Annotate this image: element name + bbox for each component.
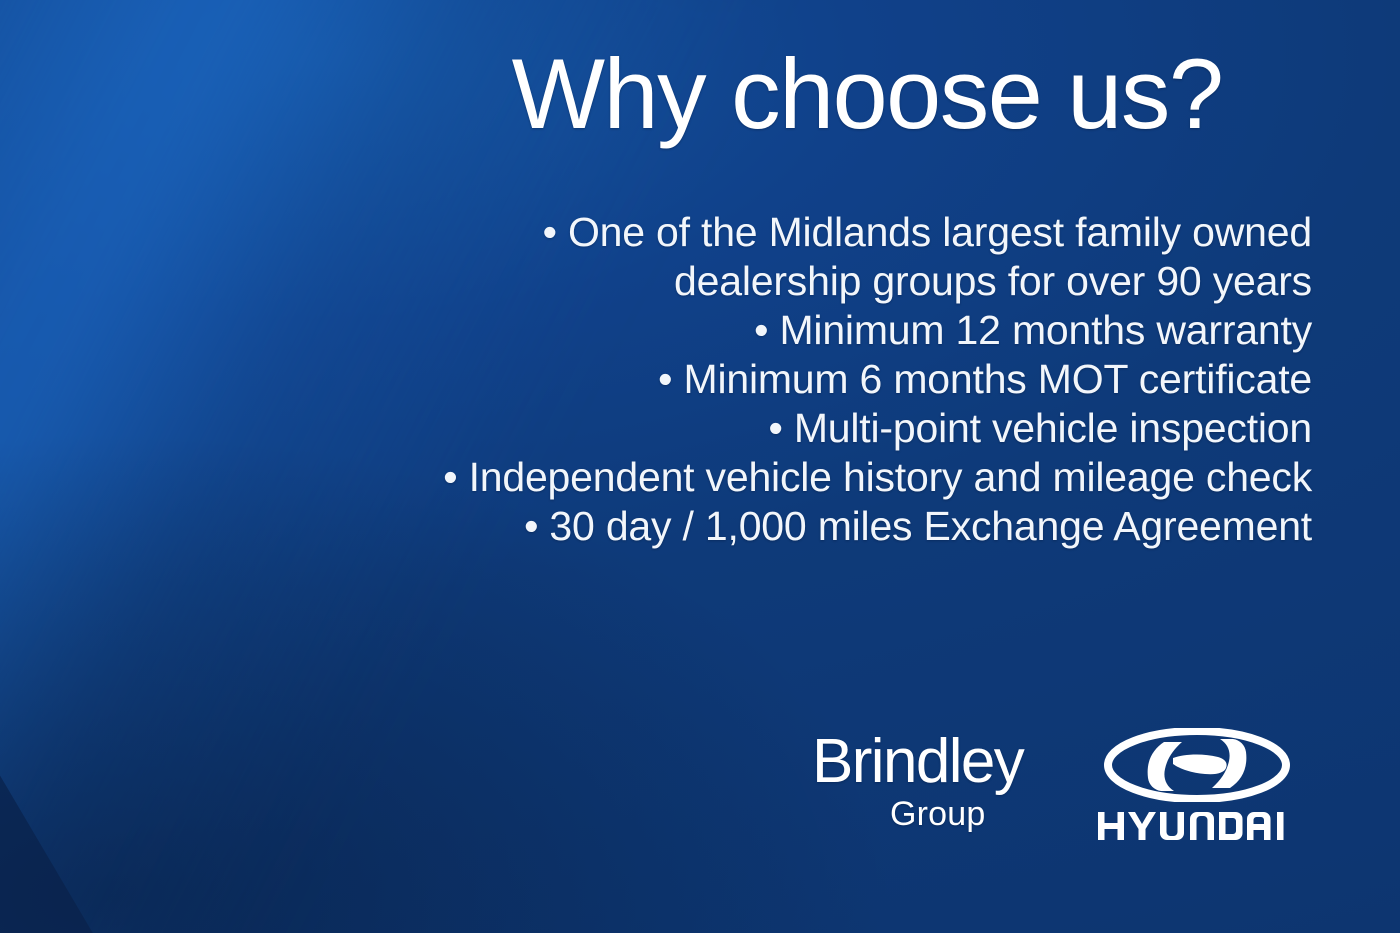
list-item: • 30 day / 1,000 miles Exchange Agreemen… <box>422 502 1312 551</box>
list-item: • Minimum 12 months warranty <box>422 306 1312 355</box>
brindley-group-logo: Brindley Group <box>812 732 1070 831</box>
page-title: Why choose us? <box>422 44 1312 143</box>
hyundai-logo <box>1097 728 1297 842</box>
list-item: • One of the Midlands largest family own… <box>422 208 1312 306</box>
brindley-wordmark: Brindley <box>812 732 1070 793</box>
list-item: • Multi-point vehicle inspection <box>422 404 1312 453</box>
benefits-list: • One of the Midlands largest family own… <box>422 208 1312 551</box>
hyundai-wordmark <box>1097 810 1287 842</box>
logo-strip: Brindley Group <box>440 722 1330 872</box>
brindley-group-subtitle: Group <box>812 797 1070 831</box>
promotional-slide: Why choose us? • One of the Midlands lar… <box>0 0 1400 933</box>
slide-content: Why choose us? • One of the Midlands lar… <box>440 0 1330 933</box>
hyundai-oval-h-emblem <box>1104 728 1290 802</box>
list-item: • Minimum 6 months MOT certificate <box>422 355 1312 404</box>
list-item: • Independent vehicle history and mileag… <box>422 453 1312 502</box>
